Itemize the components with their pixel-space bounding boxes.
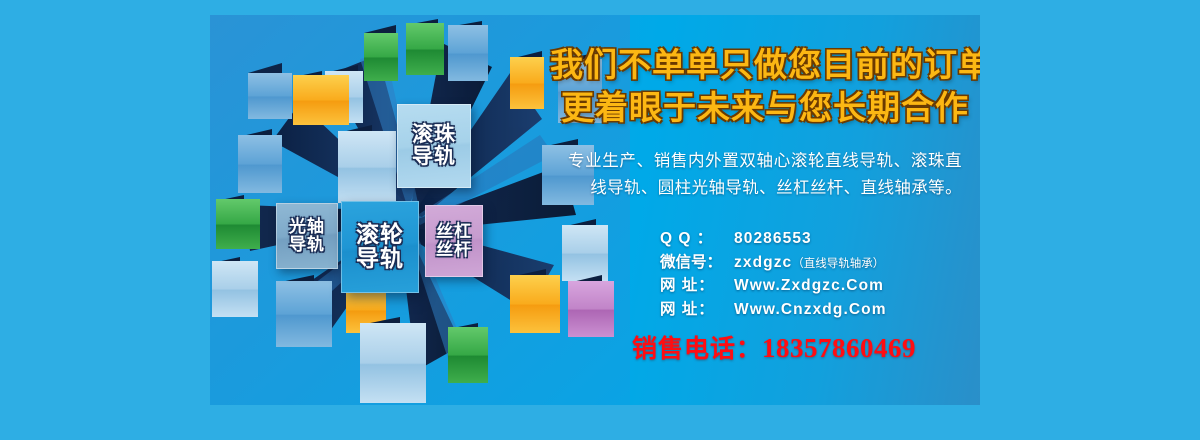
contact-value-qq[interactable]: 80286553 [734, 227, 812, 251]
banner-text-column: 我们不单单只做您目前的订单 更着眼于未来与您长期合作 专业生产、销售内外置双轴心… [550, 15, 980, 405]
contact-row-qq: Q Q ： 80286553 [660, 227, 980, 251]
contact-label-website-2: 网 址： [660, 298, 734, 322]
sales-phone-number[interactable]: 18357860469 [762, 333, 916, 363]
company-description: 专业生产、销售内外置双轴心滚轮直线导轨、滚珠直线导轨、圆柱光轴导轨、丝杠丝杆、直… [568, 148, 962, 201]
contact-label-website-1: 网 址： [660, 274, 734, 298]
tile-line2: 导轨 [289, 236, 325, 254]
headline: 我们不单单只做您目前的订单 更着眼于未来与您长期合作 [550, 43, 980, 129]
contact-row-website-2: 网 址： Www.Cnzxdg.Com [660, 298, 980, 322]
page-root: 滚珠 导轨 光轴 导轨 滚轮 导轨 丝杠 丝杆 我们不单单只做您目前的订单 更着… [0, 0, 1200, 440]
sales-phone-label: 销售电话： [632, 335, 762, 363]
contact-label-wechat: 微信号： [660, 251, 734, 275]
headline-line-2: 更着眼于未来与您长期合作 [550, 86, 980, 129]
tile-line2: 导轨 [412, 146, 456, 168]
contact-value-wechat[interactable]: zxdgzc [734, 251, 792, 275]
sales-phone: 销售电话：18357860469 [568, 329, 980, 365]
contact-block: Q Q ： 80286553 微信号： zxdgzc （直线导轨轴承） 网 址：… [660, 227, 980, 321]
contact-value-website-1[interactable]: Www.Zxdgzc.Com [734, 274, 884, 298]
contact-label-qq: Q Q ： [660, 227, 734, 251]
tile-line1: 丝杠 [436, 223, 472, 241]
contact-row-wechat: 微信号： zxdgzc （直线导轨轴承） [660, 251, 980, 275]
headline-line-1: 我们不单单只做您目前的订单 [550, 43, 980, 86]
product-tile-gunlun-daogui[interactable]: 滚轮 导轨 [341, 201, 419, 293]
tile-line2: 丝杆 [436, 241, 472, 259]
contact-note-wechat: （直线导轨轴承） [792, 256, 884, 273]
tile-line1: 滚轮 [356, 223, 404, 247]
tile-line1: 滚珠 [412, 124, 456, 146]
promo-banner: 滚珠 导轨 光轴 导轨 滚轮 导轨 丝杠 丝杆 我们不单单只做您目前的订单 更着… [210, 15, 980, 405]
contact-row-website-1: 网 址： Www.Zxdgzc.Com [660, 274, 980, 298]
tile-line2: 导轨 [356, 247, 404, 271]
contact-value-website-2[interactable]: Www.Cnzxdg.Com [734, 298, 887, 322]
product-tile-sigang-sigan[interactable]: 丝杠 丝杆 [425, 205, 483, 277]
product-tile-gunzhu-daogui[interactable]: 滚珠 导轨 [397, 104, 471, 188]
product-tile-guangzhou-daogui[interactable]: 光轴 导轨 [276, 203, 338, 269]
tile-line1: 光轴 [289, 218, 325, 236]
